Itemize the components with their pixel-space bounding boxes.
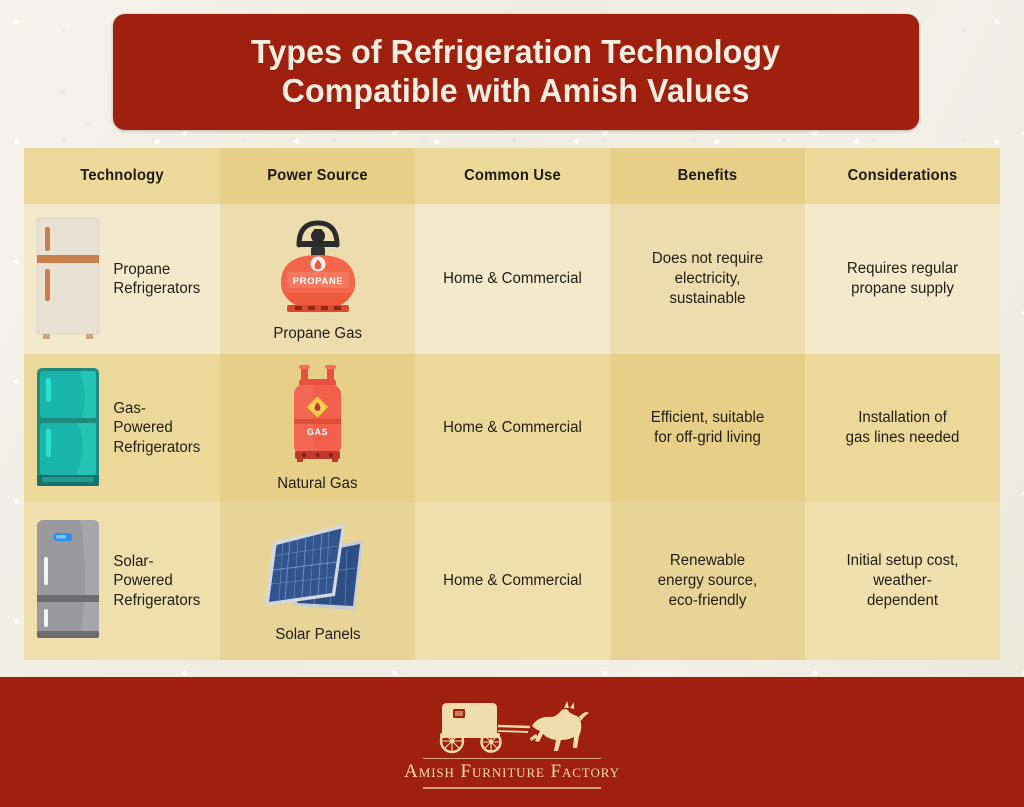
propane-refrigerator-icon [32, 215, 106, 343]
table-cell-benefits: Renewable energy source, eco-friendly [613, 502, 802, 660]
table-cell-power-source: PROPANE Propane Gas [220, 204, 415, 354]
footer-band: Amish Furniture Factory [0, 677, 1024, 807]
logo-divider-bottom [423, 787, 601, 789]
propane-tank-text: PROPANE [292, 276, 342, 287]
table-row: Solar- Powered Refrigerators [24, 502, 220, 660]
table-cell-benefits: Does not require electricity, sustainabl… [613, 204, 802, 354]
solar-panel-icon [259, 518, 377, 620]
table-cell-power-source: Solar Panels [220, 502, 415, 660]
technology-label: Propane Refrigerators [113, 260, 200, 299]
propane-tank-icon: PROPANE [273, 215, 363, 319]
gas-cylinder-icon: GAS [283, 363, 353, 469]
table-cell-common-use: Home & Commercial [418, 502, 607, 660]
table-header-benefits: Benefits [615, 148, 800, 204]
table-cell-considerations: Initial setup cost, weather- dependent [808, 502, 997, 660]
table-cell-considerations: Installation of gas lines needed [808, 354, 997, 502]
power-source-label: Solar Panels [275, 626, 360, 644]
table-cell-considerations: Requires regular propane supply [808, 204, 997, 354]
table-header-common-use: Common Use [420, 148, 605, 204]
table-row: Propane Refrigerators [24, 204, 220, 354]
table-cell-power-source: GAS Natural Gas [220, 354, 415, 502]
solar-refrigerator-icon [32, 517, 106, 645]
title-banner: Types of Refrigeration Technology Compat… [113, 14, 919, 130]
comparison-table: Technology Power Source Common Use Benef… [24, 148, 1000, 660]
table-cell-common-use: Home & Commercial [418, 354, 607, 502]
technology-label: Gas- Powered Refrigerators [113, 399, 200, 457]
brand-logo: Amish Furniture Factory [404, 696, 620, 789]
gas-refrigerator-icon [32, 365, 106, 491]
technology-label: Solar- Powered Refrigerators [113, 552, 200, 610]
brand-name: Amish Furniture Factory [404, 761, 620, 783]
horse-and-buggy-icon [412, 696, 612, 758]
table-row: Gas- Powered Refrigerators [24, 354, 220, 502]
logo-divider-top [423, 758, 601, 760]
power-source-label: Propane Gas [273, 325, 362, 343]
power-source-label: Natural Gas [277, 475, 357, 493]
table-header-power-source: Power Source [225, 148, 410, 204]
table-cell-benefits: Efficient, suitable for off-grid living [613, 354, 802, 502]
table-header-technology: Technology [29, 148, 215, 204]
page-title: Types of Refrigeration Technology Compat… [251, 33, 780, 111]
table-cell-common-use: Home & Commercial [418, 204, 607, 354]
table-header-considerations: Considerations [810, 148, 995, 204]
gas-cylinder-text: GAS [306, 427, 327, 437]
